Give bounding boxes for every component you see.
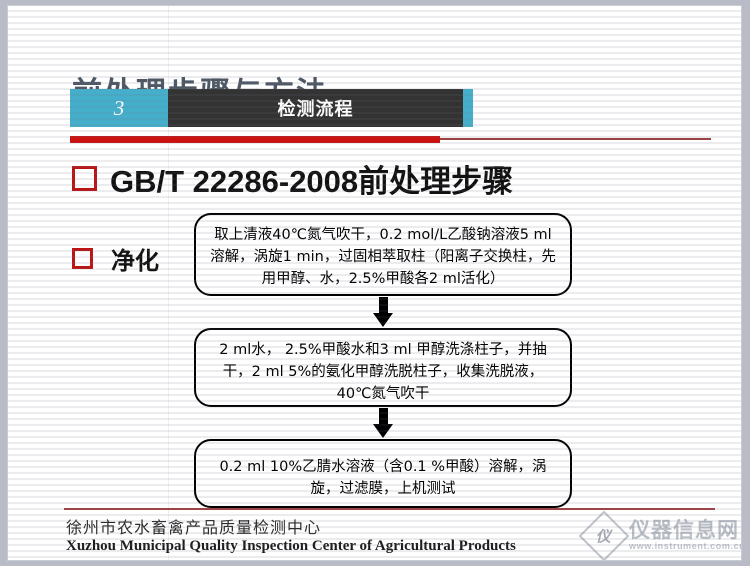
square-bullet-small-icon: [72, 248, 93, 269]
accent-rule-thin: [440, 138, 711, 140]
sub-label-text: 净化: [111, 241, 159, 276]
square-bullet-icon: [72, 166, 97, 191]
footer-organization-cn: 徐州市农水畜禽产品质量检测中心: [66, 514, 321, 538]
page-title-text: GB/T 22286-2008前处理步骤: [110, 156, 513, 201]
down-arrow-icon: [376, 408, 390, 438]
watermark-badge-glyph: 仪: [596, 525, 611, 546]
flow-step-1: 取上清液40℃氮气吹干，0.2 mol/L乙酸钠溶液5 ml 溶解，涡旋1 mi…: [194, 213, 572, 296]
flow-connector-2: [194, 407, 572, 439]
page-title: GB/T 22286-2008前处理步骤: [72, 156, 513, 201]
banner-tail-accent: [463, 89, 473, 127]
section-banner: 3 检测流程: [70, 89, 473, 127]
watermark-name: 仪器信息网: [629, 520, 741, 542]
down-arrow-icon: [376, 297, 390, 327]
section-number: 3: [70, 89, 168, 127]
slide-canvas: 前处理步骤与方法 3 检测流程 GB/T 22286-2008前处理步骤 净化 …: [8, 6, 741, 560]
flow-step-2: 2 ml水， 2.5%甲酸水和3 ml 甲醇洗涤柱子，并抽干，2 ml 5%的氨…: [194, 328, 572, 407]
watermark: 仪 仪器信息网 www.instrument.com.cn: [586, 518, 741, 554]
watermark-texts: 仪器信息网 www.instrument.com.cn: [629, 520, 741, 551]
watermark-url: www.instrument.com.cn: [629, 542, 741, 551]
footer-organization-en: Xuzhou Municipal Quality Inspection Cent…: [66, 538, 516, 555]
flow-connector-1: [194, 296, 572, 328]
watermark-logo-icon: 仪: [579, 511, 630, 560]
sub-label: 净化: [72, 241, 159, 276]
slide-page: 前处理步骤与方法 3 检测流程 GB/T 22286-2008前处理步骤 净化 …: [0, 0, 750, 566]
flow-step-3: 0.2 ml 10%乙腈水溶液（含0.1 %甲酸）溶解，涡旋，过滤膜，上机测试: [194, 439, 572, 508]
accent-rule-thick: [70, 136, 440, 143]
flow-chart: 取上清液40℃氮气吹干，0.2 mol/L乙酸钠溶液5 ml 溶解，涡旋1 mi…: [194, 213, 572, 508]
section-title: 检测流程: [168, 89, 463, 127]
footer-divider: [64, 508, 715, 510]
